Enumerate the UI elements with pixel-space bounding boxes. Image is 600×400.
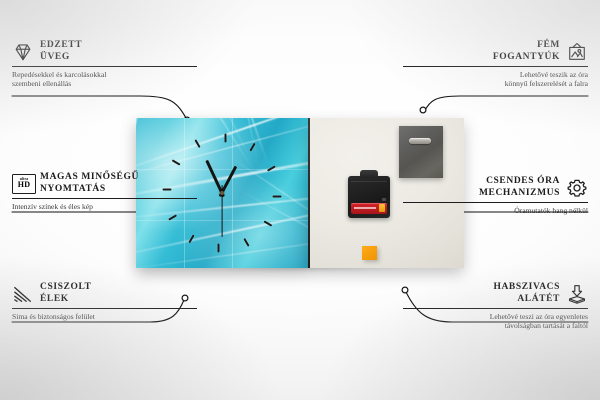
panel-edge: [308, 118, 310, 268]
callout-divider: [403, 308, 588, 309]
callout-divider: [12, 198, 197, 199]
infographic-canvas: EDZETT ÜVEG Repedésekkel és karcolásokka…: [0, 0, 600, 400]
hanger-texture: [399, 126, 443, 178]
callout-divider: [12, 66, 197, 67]
callout-subtitle: Intenzív színek és éles kép: [12, 202, 197, 212]
callout-header: FÉM FOGANTYÚK: [403, 40, 588, 63]
callout-hd-print: ultra HD MAGAS MINŐSÉGŰ NYOMTATÁS Intenz…: [12, 172, 197, 211]
diamond-icon: [12, 42, 34, 62]
hanger-slot: [409, 138, 431, 144]
leader-dot-metal-handles: [420, 107, 426, 113]
callout-subtitle: Sima és biztonságos felület: [12, 312, 197, 322]
mechanism-hook-tab: [360, 170, 378, 178]
callout-subtitle: Óramutatók hang nélkül: [403, 206, 588, 216]
foam-spacer-pad: [362, 246, 377, 260]
callout-divider: [12, 308, 197, 309]
ultra-hd-icon: ultra HD: [12, 174, 34, 194]
mechanism-dial-knob: [382, 198, 386, 201]
metal-hanger-plate: [399, 126, 443, 178]
callout-header: CSENDES ÓRA MECHANIZMUS: [403, 176, 588, 199]
callout-header: EDZETT ÜVEG: [12, 40, 197, 63]
callout-title: CSISZOLT ÉLEK: [40, 282, 91, 305]
picture-frame-hanger-icon: [566, 42, 588, 62]
leader-line-metal-handles: [424, 96, 588, 112]
callout-subtitle: Lehetővé teszi az óra egyenletes távolsá…: [403, 312, 588, 331]
callout-silent-mechanism: CSENDES ÓRA MECHANIZMUS Óramutatók hang …: [403, 176, 588, 215]
callout-tempered-glass: EDZETT ÜVEG Repedésekkel és karcolásokka…: [12, 40, 197, 89]
callout-metal-handles: FÉM FOGANTYÚK Lehetővé teszik az óra kön…: [403, 40, 588, 89]
callout-title: EDZETT ÜVEG: [40, 40, 82, 63]
polished-edge-lines-icon: [12, 284, 34, 304]
callout-title: CSENDES ÓRA MECHANIZMUS: [479, 176, 560, 199]
callout-subtitle: Lehetővé teszik az óra könnyű felszerelé…: [403, 70, 588, 89]
callout-header: HABSZIVACS ALÁTÉT: [403, 282, 588, 305]
callout-header: ultra HD MAGAS MINŐSÉGŰ NYOMTATÁS: [12, 172, 197, 195]
mechanism-seam: [351, 181, 387, 182]
callout-title: HABSZIVACS ALÁTÉT: [493, 282, 560, 305]
callout-polished-edges: CSISZOLT ÉLEK Sima és biztonságos felüle…: [12, 282, 197, 321]
callout-header: CSISZOLT ÉLEK: [12, 282, 197, 305]
clock-mechanism: [348, 176, 390, 218]
gear-icon: [566, 178, 588, 198]
callout-foam-pad: HABSZIVACS ALÁTÉT Lehetővé teszi az óra …: [403, 282, 588, 331]
battery: [351, 203, 387, 214]
callout-divider: [403, 66, 588, 67]
clock-hands-hub: [220, 191, 224, 195]
callout-divider: [403, 202, 588, 203]
callout-subtitle: Repedésekkel és karcolásokkal szembeni e…: [12, 70, 197, 89]
callout-title: MAGAS MINŐSÉGŰ NYOMTATÁS: [40, 172, 139, 195]
callout-title: FÉM FOGANTYÚK: [493, 40, 560, 63]
leader-line-tempered-glass: [12, 96, 186, 118]
press-down-pad-icon: [566, 284, 588, 304]
